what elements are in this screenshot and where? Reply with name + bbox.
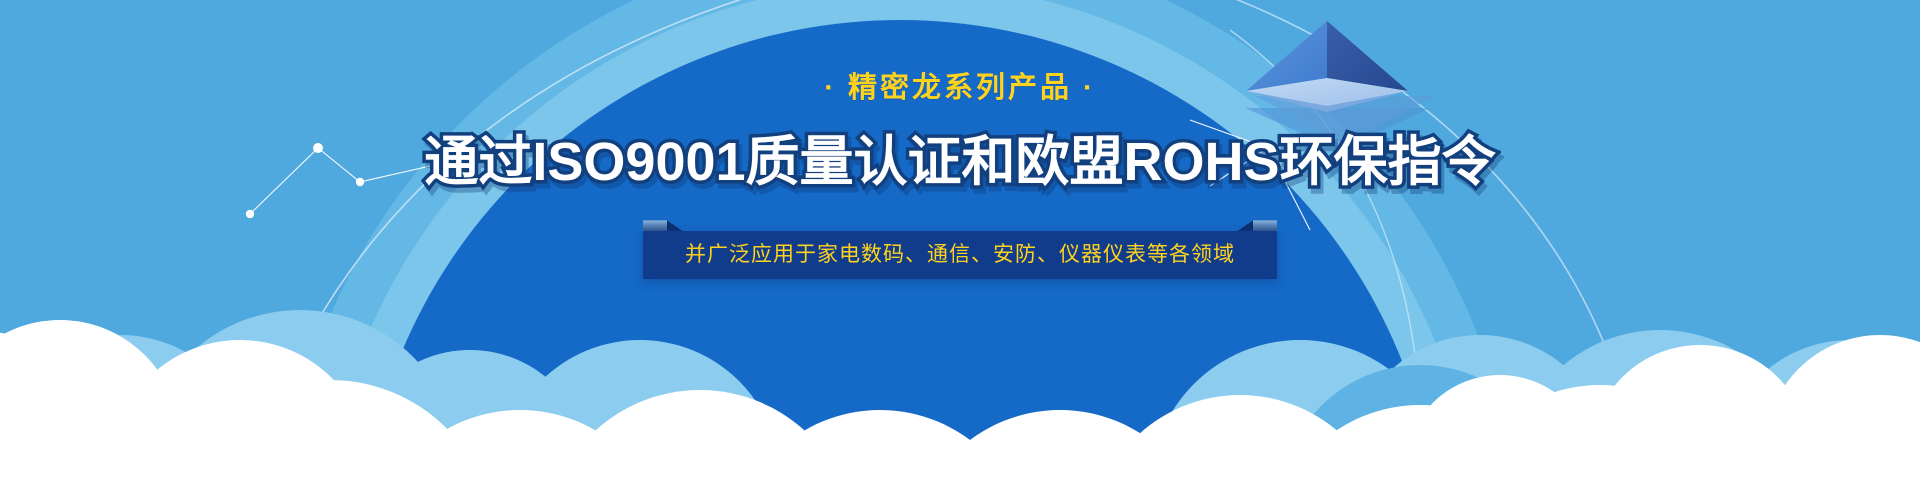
- ribbon-tab-right: [1253, 220, 1277, 231]
- banner-subtitle: 并广泛应用于家电数码、通信、安防、仪器仪表等各领域: [685, 243, 1235, 266]
- banner-headline: 通过ISO9001质量认证和欧盟ROHS环保指令: [424, 133, 1495, 191]
- promo-banner: · 精密龙系列产品 · 通过ISO9001质量认证和欧盟ROHS环保指令 并广泛…: [0, 0, 1920, 480]
- banner-headline-wrap: 通过ISO9001质量认证和欧盟ROHS环保指令: [424, 133, 1495, 191]
- banner-eyebrow: · 精密龙系列产品 ·: [824, 74, 1095, 103]
- banner-subtitle-box: 并广泛应用于家电数码、通信、安防、仪器仪表等各领域: [643, 231, 1277, 279]
- ribbon-tab-left: [643, 220, 667, 231]
